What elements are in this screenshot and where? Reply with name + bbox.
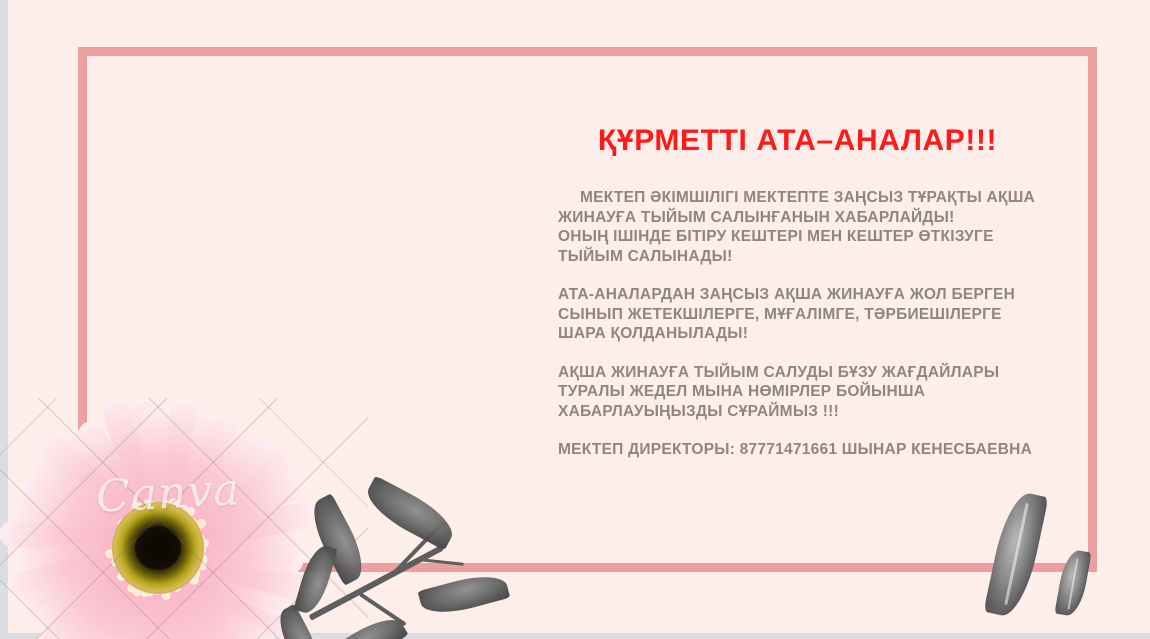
leaf-branch-graphic [300, 440, 580, 639]
branch-leaf [323, 609, 408, 639]
body-line: ТЫЙЫМ САЛЫНАДЫ! [558, 247, 1058, 267]
announcement-poster: Canva ҚҰРМЕТТІ АТА–АНАЛАР!!! МЕКТЕП ӘКІМ… [0, 0, 1150, 639]
corner-leaf-pair-graphic [990, 480, 1120, 630]
director-line: МЕКТЕП ДИРЕКТОРЫ: 87771471661 ШЫНАР КЕНЕ… [558, 440, 1058, 460]
body-line: ЖИНАУҒА ТЫЙЫМ САЛЫНҒАНЫН ХАБАРЛАЙДЫ! [558, 208, 1058, 228]
body-line: ШАРА ҚОЛДАНЫЛАДЫ! [558, 324, 1058, 344]
body-line: АТА-АНАЛАРДАН ЗАҢСЫЗ АҚША ЖИНАУҒА ЖОЛ БЕ… [558, 285, 1058, 305]
body-line: ТУРАЛЫ ЖЕДЕЛ МЫНА НӨМІРЛЕР БОЙЫНША [558, 382, 1058, 402]
page-title: ҚҰРМЕТТІ АТА–АНАЛАР!!! [598, 124, 997, 158]
branch-leaf [417, 569, 510, 621]
body-line: АҚША ЖИНАУҒА ТЫЙЫМ САЛУДЫ БҰЗУ ЖАҒДАЙЛАР… [558, 363, 1058, 383]
paragraph-notice-ban: МЕКТЕП ӘКІМШІЛІГІ МЕКТЕПТЕ ЗАҢСЫЗ ТҰРАҚТ… [558, 188, 1058, 266]
paragraph-notice-report: АҚША ЖИНАУҒА ТЫЙЫМ САЛУДЫ БҰЗУ ЖАҒДАЙЛАР… [558, 363, 1058, 422]
branch-stem [418, 558, 464, 566]
flower-center [135, 526, 181, 570]
body-line: ХАБАРЛАУЫҢЫЗДЫ СҰРАЙМЫЗ !!! [558, 402, 1058, 422]
body-line: МЕКТЕП ӘКІМШІЛІГІ МЕКТЕПТЕ ЗАҢСЫЗ ТҰРАҚТ… [558, 188, 1058, 208]
branch-leaf [360, 475, 461, 550]
director-contact-line: МЕКТЕП ДИРЕКТОРЫ: 87771471661 ШЫНАР КЕНЕ… [558, 440, 1058, 460]
body-line: ОНЫҢ ІШІНДЕ БІТІРУ КЕШТЕРІ МЕН КЕШТЕР ӨТ… [558, 227, 1058, 247]
paragraph-notice-sanctions: АТА-АНАЛАРДАН ЗАҢСЫЗ АҚША ЖИНАУҒА ЖОЛ БЕ… [558, 285, 1058, 344]
announcement-body: МЕКТЕП ӘКІМШІЛІГІ МЕКТЕПТЕ ЗАҢСЫЗ ТҰРАҚТ… [558, 188, 1058, 460]
body-line: СЫНЫП ЖЕТЕКШІЛЕРГЕ, МҰҒАЛІМГЕ, ТӘРБИЕШІЛ… [558, 305, 1058, 325]
